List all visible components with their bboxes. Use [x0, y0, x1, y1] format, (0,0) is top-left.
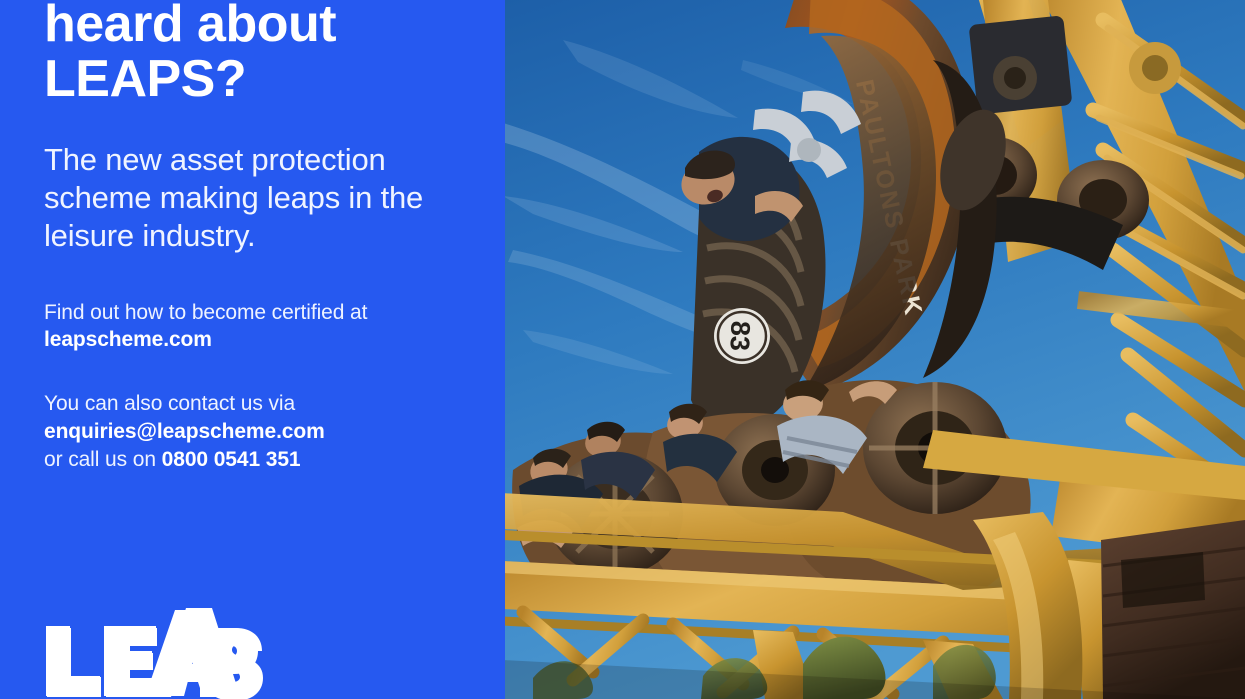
- phone-lead-text: or call us on: [44, 448, 162, 471]
- cta-paragraph: Find out how to become certified at leap…: [44, 299, 484, 354]
- contact-lead-text: You can also contact us via: [44, 392, 295, 415]
- website-link[interactable]: leapscheme.com: [44, 328, 212, 351]
- subheadline: The new asset protection scheme making l…: [44, 141, 484, 254]
- phone-number[interactable]: 0800 0541 351: [162, 448, 301, 471]
- cta-lead-text: Find out how to become certified at: [44, 301, 367, 324]
- leaps-advert: Have you heard about LEAPS? The new asse…: [0, 0, 1245, 699]
- headline-line-3: LEAPS?: [44, 52, 484, 107]
- leaps-wordmark-icon: [44, 608, 274, 699]
- contact-paragraph: You can also contact us via enquiries@le…: [44, 390, 484, 473]
- car-number-text: 83: [724, 320, 755, 351]
- rollercoaster-photo: PAULTONS PARK 83: [503, 0, 1245, 699]
- car-number-badge: 83: [714, 308, 770, 364]
- photo-illustration: PAULTONS PARK 83: [503, 0, 1245, 699]
- headline: Have you heard about LEAPS?: [44, 0, 484, 107]
- email-link[interactable]: enquiries@leapscheme.com: [44, 420, 325, 443]
- headline-line-2: heard about: [44, 0, 484, 52]
- leaps-logo: [44, 608, 274, 699]
- blue-info-panel: Have you heard about LEAPS? The new asse…: [0, 0, 505, 699]
- copy-block: Have you heard about LEAPS? The new asse…: [44, 0, 484, 473]
